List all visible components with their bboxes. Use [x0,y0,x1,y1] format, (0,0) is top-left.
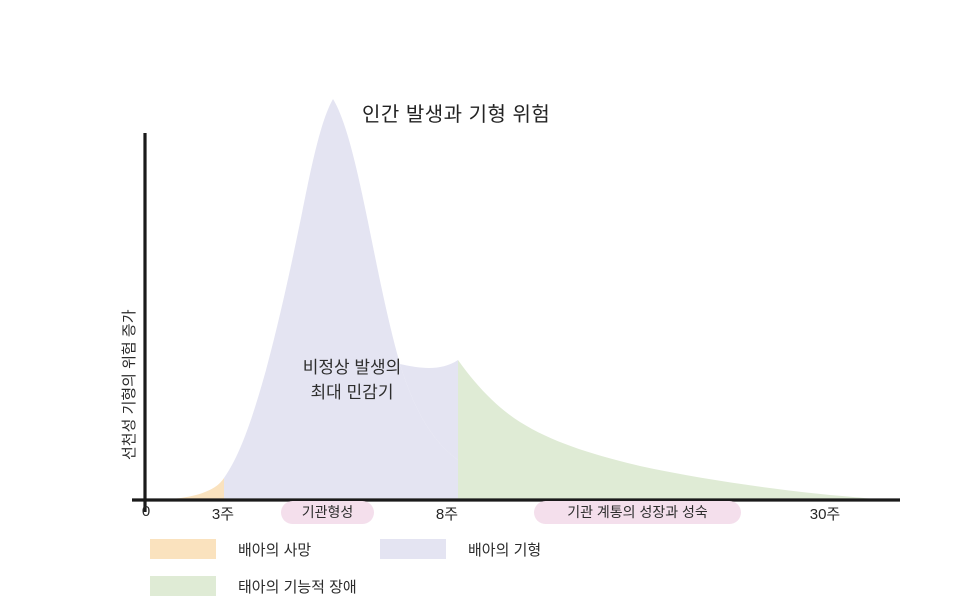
legend-swatch-fetal-functional-defect [150,576,216,596]
legend-label-embryonic-malformation: 배아의 기형 [468,539,541,560]
phase-badge-organogenesis: 기관형성 [281,501,374,524]
x-tick-label-week8: 8주 [422,503,472,524]
legend-label-fetal-functional-defect: 태아의 기능적 장애 [238,576,357,597]
legend-item-embryonic-malformation: 배아의 기형 [380,538,541,560]
area-embryonic-death [145,478,224,500]
peak-sensitivity-annotation: 비정상 발생의 최대 민감기 [252,356,452,405]
y-axis-label: 선천성 기형의 위험 증가 [118,160,139,460]
x-tick-label-week30: 30주 [798,503,852,524]
chart-legend: 배아의 사망 배아의 기형 태아의 기능적 장애 [150,538,770,612]
phase-badge-maturation: 기관 계통의 성장과 성숙 [534,501,741,524]
legend-item-fetal-functional-defect: 태아의 기능적 장애 [150,575,357,597]
teratogenic-risk-chart: 인간 발생과 기형 위험 선천성 기형의 위험 증가 비정상 발생의 최대 민감… [0,0,966,600]
area-embryonic-malformation [224,99,458,500]
legend-row: 배아의 사망 배아의 기형 [150,538,770,575]
legend-row: 태아의 기능적 장애 [150,575,770,612]
legend-swatch-embryonic-malformation [380,539,446,559]
legend-label-embryonic-death: 배아의 사망 [238,539,311,560]
chart-title: 인간 발생과 기형 위험 [362,98,550,127]
area-fetal-functional-defect [458,360,886,500]
legend-item-embryonic-death: 배아의 사망 [150,538,311,560]
x-tick-label-0: 0 [136,503,156,520]
legend-swatch-embryonic-death [150,539,216,559]
x-tick-label-week3: 3주 [198,503,248,524]
